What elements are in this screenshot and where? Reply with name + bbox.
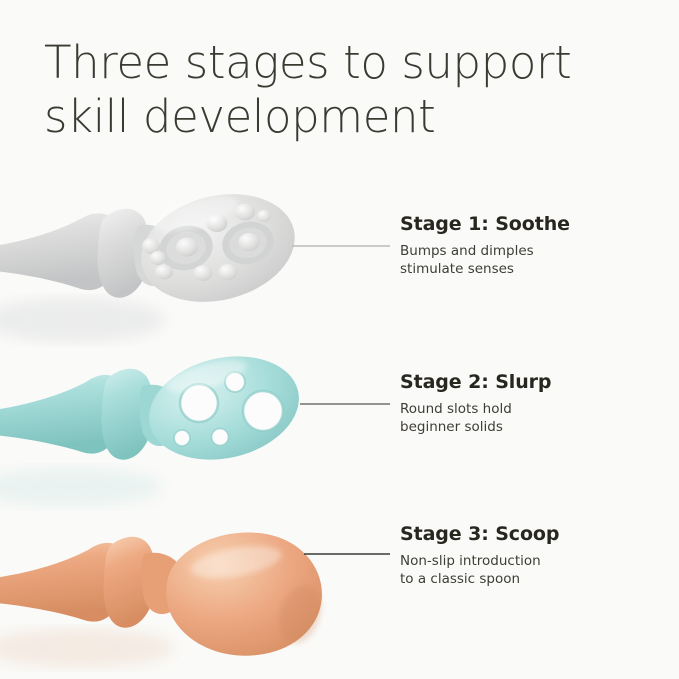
stage-2-desc-line-1: Round slots hold — [400, 400, 650, 418]
page-title: Three stages to support skill developmen… — [44, 36, 604, 144]
teal-spoon-head — [139, 342, 310, 474]
stage-3-callout: Stage 3: Scoop Non-slip introduction to … — [400, 522, 650, 588]
orange-scoop-spoon — [0, 532, 328, 668]
gray-head-ring-bump-b — [218, 216, 279, 269]
stage-2-desc-line-2: beginner solids — [400, 418, 650, 436]
teal-spoon-collar — [102, 369, 154, 460]
gray-head-highlight — [150, 188, 242, 239]
gray-teether-spoon — [0, 179, 306, 342]
stage-1-title: Stage 1: Soothe — [400, 212, 650, 236]
orange-spoon-handle — [0, 543, 127, 622]
page-title-line-2: skill development — [44, 90, 604, 144]
orange-spoon-collar — [104, 537, 156, 628]
orange-spoon-shadow — [0, 628, 175, 668]
orange-bowl-shade — [272, 579, 329, 648]
gray-spoon-neck — [134, 225, 179, 286]
page-title-line-1: Three stages to support — [44, 36, 604, 90]
stage-1-desc-line-2: stimulate senses — [400, 260, 650, 278]
stage-3-title: Stage 3: Scoop — [400, 522, 650, 546]
gray-spoon-shadow — [0, 298, 165, 342]
teal-spoon-handle — [0, 375, 125, 454]
gray-head-small-bumps — [142, 204, 271, 282]
gray-spoon-collar — [98, 209, 150, 298]
orange-bowl-highlight — [188, 540, 283, 584]
infographic-panel: Three stages to support skill developmen… — [0, 0, 679, 679]
teal-head-highlight — [162, 354, 249, 399]
gray-head-ring-bump-a — [154, 220, 217, 276]
gray-spoon-head — [130, 179, 307, 318]
orange-spoon-neck — [141, 553, 186, 614]
stage-3-desc-line-2: to a classic spoon — [400, 570, 650, 588]
teal-spoon-neck — [139, 385, 184, 446]
stage-2-title: Stage 2: Slurp — [400, 370, 650, 394]
teal-slotted-spoon — [0, 342, 309, 507]
stage-1-callout: Stage 1: Soothe Bumps and dimples stimul… — [400, 212, 650, 278]
gray-spoon-handle — [0, 213, 121, 290]
stage-2-callout: Stage 2: Slurp Round slots hold beginner… — [400, 370, 650, 436]
teal-spoon-shadow — [0, 467, 162, 507]
stage-1-desc-line-1: Bumps and dimples — [400, 242, 650, 260]
teal-head-slots — [174, 372, 283, 446]
stage-3-desc-line-1: Non-slip introduction — [400, 552, 650, 570]
orange-spoon-bowl — [166, 532, 322, 655]
